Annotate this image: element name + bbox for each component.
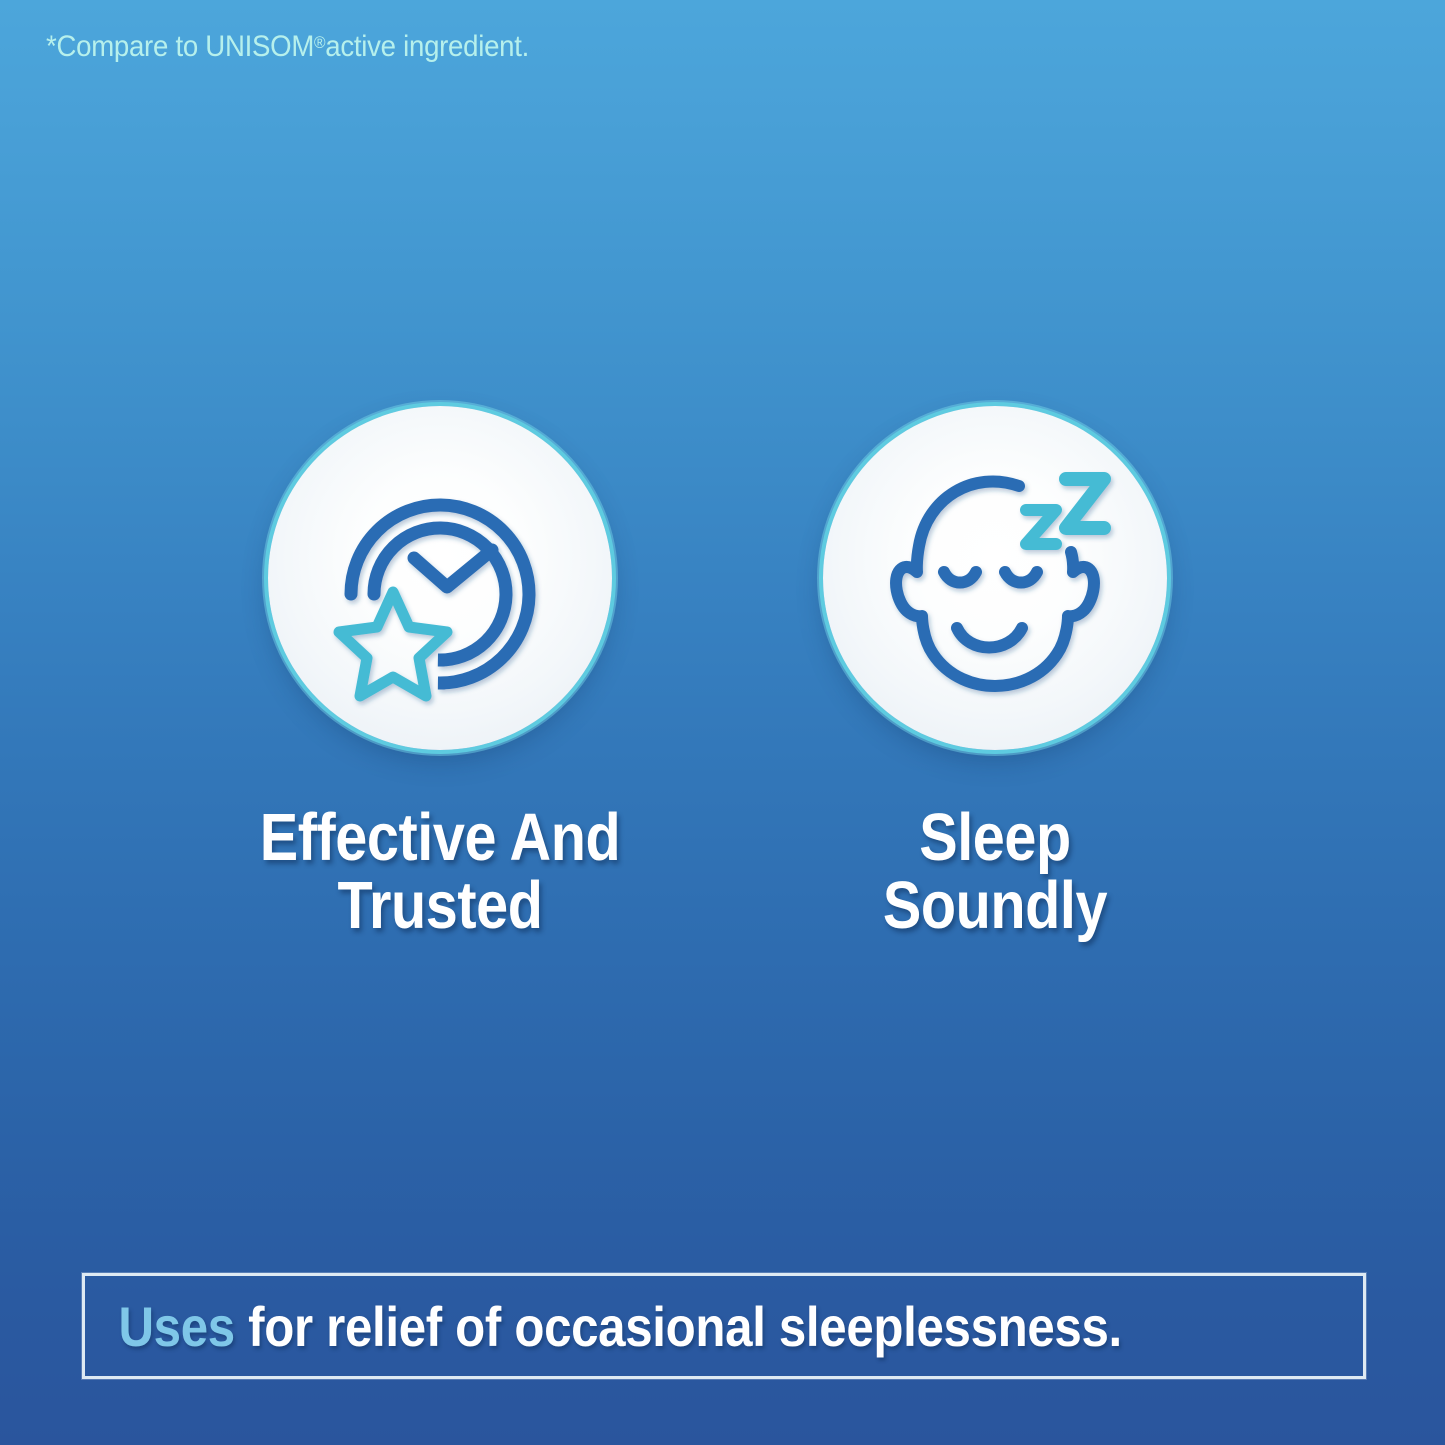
benefit-icon-badge: [268, 406, 612, 750]
benefit-label-line-1: Sleep: [797, 804, 1193, 872]
benefit-label: Effective And Trusted: [242, 804, 638, 941]
footnote-compare-text: *Compare to UNISOM®active ingredient.: [46, 30, 529, 64]
benefit-sleep-soundly: Sleep Soundly: [765, 400, 1225, 941]
product-feature-panel: *Compare to UNISOM®active ingredient.: [0, 0, 1445, 1445]
registered-trademark-icon: ®: [314, 33, 325, 52]
footnote-prefix: *Compare to UNISOM: [46, 30, 314, 63]
uses-description: for relief of occasional sleeplessness.: [235, 1295, 1122, 1358]
uses-keyword: Uses: [118, 1295, 234, 1358]
benefit-label: Sleep Soundly: [797, 804, 1193, 941]
clock-star-icon: [268, 406, 612, 750]
benefit-effective-and-trusted: Effective And Trusted: [210, 400, 670, 941]
uses-banner-text: Uses for relief of occasional sleeplessn…: [85, 1294, 1122, 1359]
benefit-label-line-2: Trusted: [242, 872, 638, 940]
benefit-icon-badge: [823, 406, 1167, 750]
benefits-row: Effective And Trusted: [0, 400, 1445, 980]
footnote-suffix: active ingredient.: [325, 30, 529, 63]
sleeping-face-zzz-icon: [823, 406, 1167, 750]
benefit-label-line-2: Soundly: [797, 872, 1193, 940]
benefit-label-line-1: Effective And: [242, 804, 638, 872]
uses-banner: Uses for relief of occasional sleeplessn…: [82, 1273, 1366, 1379]
